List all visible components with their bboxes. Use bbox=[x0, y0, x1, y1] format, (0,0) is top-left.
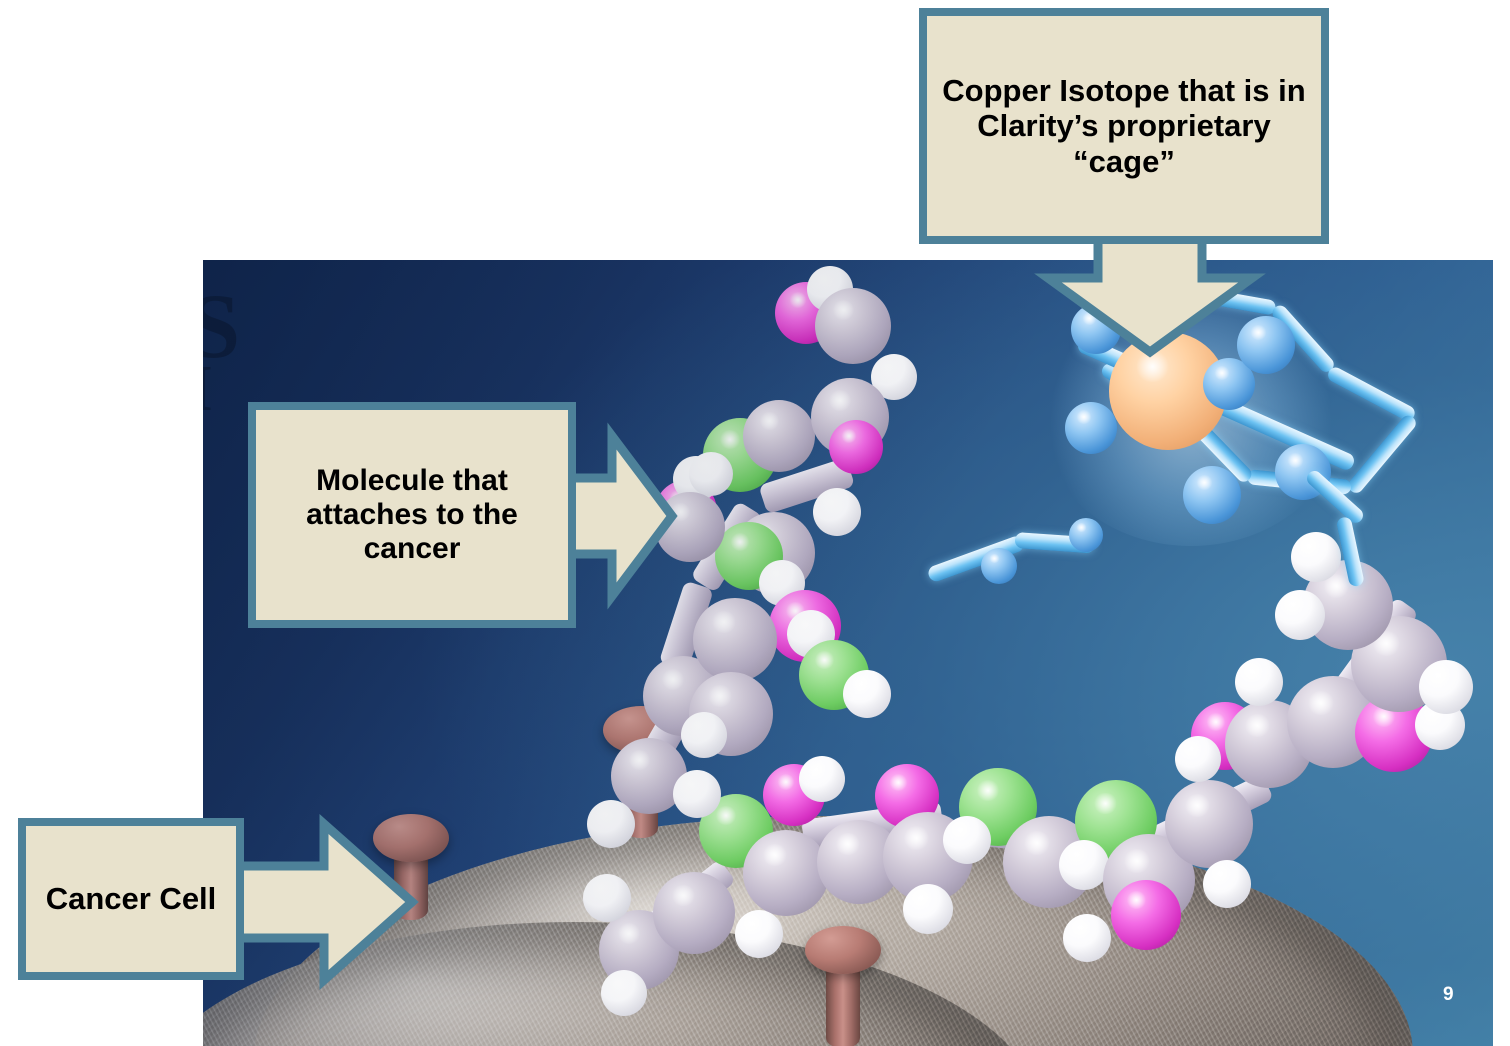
atom-cage-donor bbox=[1183, 466, 1241, 524]
atom-hydrogen bbox=[1419, 660, 1473, 714]
atom-cage-donor bbox=[1069, 518, 1103, 552]
atom-cage-donor bbox=[1065, 402, 1117, 454]
atom-hydrogen bbox=[1275, 590, 1325, 640]
atom-hydrogen bbox=[813, 488, 861, 536]
atom-carbon bbox=[743, 830, 829, 916]
page-number: 9 bbox=[1443, 984, 1454, 1006]
atom-hydrogen bbox=[1203, 860, 1251, 908]
atom-cage-donor bbox=[981, 548, 1017, 584]
atom-oxygen bbox=[1111, 880, 1181, 950]
atom-hydrogen bbox=[681, 712, 727, 758]
atom-hydrogen bbox=[673, 770, 721, 818]
atom-carbon bbox=[815, 288, 891, 364]
cropped-title-glyph-2: I bbox=[203, 356, 213, 422]
atom-hydrogen bbox=[1235, 658, 1283, 706]
callout-copper-isotope[interactable]: Copper Isotope that is in Clarity’s prop… bbox=[919, 8, 1329, 244]
callout-copper-text: Copper Isotope that is in Clarity’s prop… bbox=[927, 73, 1321, 179]
callout-molecule[interactable]: Molecule that attaches to the cancer bbox=[248, 402, 576, 628]
atom-hydrogen bbox=[1063, 914, 1111, 962]
atom-oxygen bbox=[829, 420, 883, 474]
callout-cancer-cell[interactable]: Cancer Cell bbox=[18, 818, 244, 980]
callout-molecule-text: Molecule that attaches to the cancer bbox=[256, 464, 568, 567]
atom-hydrogen bbox=[843, 670, 891, 718]
atom-hydrogen bbox=[587, 800, 635, 848]
atom-hydrogen bbox=[583, 874, 631, 922]
molecule-callout-arrow bbox=[570, 430, 678, 602]
atom-hydrogen bbox=[943, 816, 991, 864]
atom-carbon bbox=[693, 598, 777, 682]
cage-bond bbox=[1346, 413, 1419, 496]
atom-hydrogen bbox=[1059, 840, 1109, 890]
atom-hydrogen bbox=[689, 452, 733, 496]
atom-hydrogen bbox=[1291, 532, 1341, 582]
atom-hydrogen bbox=[601, 970, 647, 1016]
atom-hydrogen bbox=[1175, 736, 1221, 782]
cell-receptor-right bbox=[805, 922, 881, 1046]
atom-carbon bbox=[653, 872, 735, 954]
atom-hydrogen bbox=[799, 756, 845, 802]
atom-carbon bbox=[743, 400, 815, 472]
copper-callout-arrow bbox=[1040, 236, 1260, 356]
atom-hydrogen bbox=[735, 910, 783, 958]
callout-cancer-text: Cancer Cell bbox=[46, 881, 217, 916]
cancer-callout-arrow bbox=[238, 818, 418, 986]
atom-carbon bbox=[1165, 780, 1253, 868]
atom-hydrogen bbox=[903, 884, 953, 934]
